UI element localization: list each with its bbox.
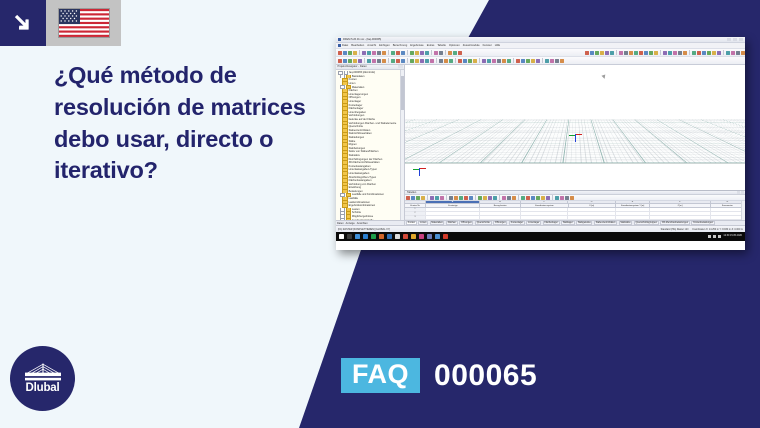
toolbar-button[interactable] [526,59,530,63]
table-cell[interactable] [568,216,615,219]
tree-item-label: Gelenke auf der Fläche [349,118,375,121]
toolbar-button[interactable] [458,51,462,55]
table-cell[interactable] [616,216,650,219]
table-sheet-tab[interactable]: Querschnittsgruppen [634,221,659,225]
table-row[interactable]: 3 [405,216,745,220]
table-cell[interactable] [568,212,615,215]
toolbar-button[interactable] [678,51,682,55]
toolbar-button[interactable] [343,51,347,55]
toolbar-separator [436,58,437,63]
toolbar-button[interactable] [362,51,366,55]
table-sheet-tabs[interactable]: KnotenLinienMaterialienFlächenÖffnungenQ… [405,220,745,225]
toolbar-separator [388,50,389,55]
corner-axis-z-indicator [419,168,420,176]
toolbar-button[interactable] [430,59,434,63]
toolbar-separator [518,195,519,200]
table-cell[interactable]: 3 [405,216,426,219]
toolbar-separator [499,195,500,200]
logo-label: Dlubal [26,383,60,395]
toolbar-button[interactable] [712,51,716,55]
tray-icon-network[interactable] [708,235,711,238]
toolbar-button[interactable] [536,196,540,200]
toolbar-button[interactable] [338,59,342,63]
toolbar-button[interactable] [493,196,497,200]
toolbar-button[interactable] [702,51,706,55]
table-sheet-tab[interactable]: Linienlager [526,221,541,225]
table-panel-header: Tabellen [405,191,745,195]
table-cell[interactable] [480,212,521,215]
toolbar-button[interactable] [435,196,439,200]
navigator-pin-icon[interactable] [398,65,403,68]
taskbar-app-icon[interactable] [363,234,368,239]
menu-item-fenster[interactable]: Fenster [483,44,492,47]
menu-item-ergebnisse[interactable]: Ergebnisse [410,44,423,47]
table-column-letter[interactable]: E [616,201,650,203]
toolbar-button[interactable] [448,51,452,55]
navigator-tree[interactable]: faq-000065 [dlcontrols]BasisdatenKnotenL… [336,70,404,220]
table-sheet-tab[interactable]: Stabexzentrizitäten [594,221,617,225]
arrow-down-right-button[interactable] [0,0,46,46]
tray-icon-volume[interactable] [713,235,716,238]
navigator-tab-ansichten[interactable]: Ansichten [357,222,368,225]
toolbar-button[interactable] [629,51,633,55]
toolbar-button[interactable] [416,196,420,200]
tray-icon-battery[interactable] [718,235,721,238]
app-toolbar-secondary[interactable] [336,57,745,65]
toolbar-separator [689,50,690,55]
tree-item-label: Stabsätze [349,154,360,157]
table-cell[interactable] [711,208,745,211]
toolbar-button[interactable] [565,196,569,200]
tree-item[interactable]: Ausdruckprotokolle [337,218,404,220]
table-cell[interactable] [426,208,480,211]
toolbar-button[interactable] [410,59,414,63]
maximize-icon[interactable] [733,38,737,41]
table-cell[interactable] [711,212,745,215]
dlubal-logo[interactable]: Dlubal [10,346,75,411]
toolbar-button[interactable] [358,59,362,63]
tree-item-label: Flächen [349,89,358,92]
toolbar-button[interactable] [420,59,424,63]
windows-taskbar[interactable]: 12:30 15.05.2020 [336,232,745,241]
toolbar-button[interactable] [338,51,342,55]
project-navigator: Projekt-Navigator - Daten faq-000065 [dl… [336,65,405,225]
toolbar-button[interactable] [736,51,740,55]
toolbar-button[interactable] [668,51,672,55]
table-cell[interactable] [711,216,745,219]
toolbar-button[interactable] [396,59,400,63]
taskbar-app-icon[interactable] [403,234,408,239]
toolbar-separator [431,50,432,55]
toolbar-button[interactable] [453,51,457,55]
navigator-tabs[interactable]: Daten Anzeige Ansichten [336,220,404,225]
taskbar-app-icon[interactable] [395,234,400,239]
faq-badge: FAQ [341,358,420,393]
toolbar-button[interactable] [353,51,357,55]
toolbar-button[interactable] [502,196,506,200]
navigator-scrollbar[interactable] [400,70,404,220]
toolbar-button[interactable] [654,51,658,55]
toolbar-button[interactable] [482,59,486,63]
toolbar-button[interactable] [741,51,745,55]
toolbar-separator [407,50,408,55]
close-icon[interactable] [739,38,743,41]
toolbar-button[interactable] [459,196,463,200]
table-cell[interactable] [480,216,521,219]
navigator-tab-daten[interactable]: Daten [337,222,344,225]
toolbar-button[interactable] [521,196,525,200]
app-statusbar: [F1] RASTER [KOMPLETTIEREN] [GLOBAL XY] … [336,225,745,232]
toolbar-button[interactable] [560,196,564,200]
taskbar-clock[interactable]: 12:30 15.05.2020 [723,235,742,238]
toolbar-button[interactable] [425,59,429,63]
mouse-cursor-icon [602,74,607,79]
toolbar-button[interactable] [406,196,410,200]
toolbar-button[interactable] [531,196,535,200]
taskbar-app-icon[interactable] [379,234,384,239]
toolbar-button[interactable] [420,51,424,55]
toolbar-button[interactable] [401,51,405,55]
table-sheet-tab[interactable]: Stabsätze [619,221,633,225]
toolbar-button[interactable] [663,51,667,55]
window-controls[interactable] [727,38,743,41]
toolbar-separator [660,50,661,55]
toolbar-separator [479,58,480,63]
table-sheet-tab[interactable]: Stabgelenke [576,221,592,225]
toolbar-separator [407,58,408,63]
toolbar-button[interactable] [377,51,381,55]
table-cell[interactable] [616,212,650,215]
taskbar-app-icon[interactable] [371,234,376,239]
toolbar-button[interactable] [353,59,357,63]
scrollbar-thumb[interactable] [401,76,404,110]
tree-item-label: Linienlastangaben [349,172,370,175]
toolbar-button[interactable] [464,196,468,200]
toolbar-button[interactable] [600,51,604,55]
toolbar-button[interactable] [367,59,371,63]
toolbar-button[interactable] [521,59,525,63]
toolbar-button[interactable] [536,59,540,63]
toolbar-button[interactable] [430,196,434,200]
us-flag-icon [59,9,109,37]
toolbar-button[interactable] [458,59,462,63]
toolbar-button[interactable] [531,59,535,63]
toolbar-button[interactable] [372,51,376,55]
toolbar-button[interactable] [507,59,511,63]
table-sheet-tab[interactable]: Flächenlager [543,221,560,225]
toolbar-button[interactable] [545,59,549,63]
table-sheet-tab[interactable]: Knoten [406,221,417,225]
toolbar-button[interactable] [382,51,386,55]
menu-item-tabelle[interactable]: Tabelle [437,44,446,47]
table-column-letter[interactable]: A [426,201,480,203]
toolbar-button[interactable] [605,51,609,55]
toolbar-separator [446,195,447,200]
toolbar-button[interactable] [487,59,491,63]
toolbar-button[interactable] [343,59,347,63]
table-sheet-tab[interactable]: Knotenbelastungen [691,221,714,225]
toolbar-separator [616,50,617,55]
tree-item-label: 3D-Flächennichtlinearitäten [349,161,380,164]
toolbar-separator [475,195,476,200]
toolbar-button[interactable] [516,59,520,63]
windows-start-icon[interactable] [339,234,344,239]
tree-item-label: Querschnitte [349,125,363,128]
app-titlebar: RFEM 5.26.01.xxx - [faq-000065] [336,37,745,43]
tree-item-label: Öffnungen [349,96,361,99]
table-sheet-tab[interactable]: Stablager [561,221,574,225]
table-column-header: Z [m] [650,204,710,207]
toolbar-button[interactable] [348,51,352,55]
toolbar-button[interactable] [546,196,550,200]
table-column-letter[interactable]: C [521,201,568,203]
toolbar-button[interactable] [683,51,687,55]
toolbar-button[interactable] [590,51,594,55]
system-tray[interactable]: 12:30 15.05.2020 [708,235,742,238]
table-column-letter[interactable]: F [650,201,711,203]
toolbar-button[interactable] [439,51,443,55]
navigator-title: Projekt-Navigator - Daten [338,65,367,68]
menu-item-optionen[interactable]: Optionen [449,44,460,47]
toolbar-button[interactable] [673,51,677,55]
toolbar-button[interactable] [425,51,429,55]
table-panel-controls[interactable] [737,191,745,194]
menu-item-zusatzmodule[interactable]: Zusatzmodule [463,44,480,47]
app-body: Projekt-Navigator - Daten faq-000065 [dl… [336,65,745,225]
page-title: ¿Qué método de resolución de matrices de… [54,60,322,187]
table-column-header: Knoten Nr. [405,204,426,207]
toolbar-button[interactable] [610,51,614,55]
table-sheet-tab[interactable]: Materialien [430,221,445,225]
taskbar-app-icon[interactable] [435,234,440,239]
toolbar-button[interactable] [639,51,643,55]
toolbar-button[interactable] [396,51,400,55]
toolbar-button[interactable] [449,59,453,63]
menu-item-einfuegen[interactable]: Einfügen [379,44,390,47]
application-screenshot: RFEM 5.26.01.xxx - [faq-000065] Datei Be… [336,37,745,250]
workspace: Tabellen ABCDEFG Knoten Nr.KnotentypBezu… [405,65,745,225]
toolbar-button[interactable] [492,59,496,63]
folder-icon [346,218,351,220]
menu-item-berechnung[interactable]: Berechnung [393,44,408,47]
toolbar-button[interactable] [454,196,458,200]
table-column-letter[interactable]: B [480,201,521,203]
table-scrollbar[interactable] [741,201,745,220]
language-flag-button[interactable] [46,0,121,46]
table-sheet-tab[interactable]: Linien [418,221,428,225]
menu-item-extras[interactable]: Extras [427,44,435,47]
taskbar-app-icon[interactable] [387,234,392,239]
taskbar-app-icon[interactable] [443,234,448,239]
toolbar-button[interactable] [555,59,559,63]
taskbar-app-icon[interactable] [427,234,432,239]
toolbar-button[interactable] [372,59,376,63]
table-column-header: Bezug-knoten [480,204,521,207]
toolbar-button[interactable] [595,51,599,55]
toolbar-button[interactable] [707,51,711,55]
toolbar-button[interactable] [410,51,414,55]
navigator-tab-anzeige[interactable]: Anzeige [346,222,355,225]
table-cell[interactable] [650,208,711,211]
toolbar-button[interactable] [415,51,419,55]
table-column-letter[interactable]: D [568,201,615,203]
tree-item-label: Linienlastangaben-Typen [349,168,377,171]
table-column-header: Koordinatensystem Y [m] [616,204,650,207]
status-hint: [F1] RASTER [KOMPLETTIEREN] [GLOBAL XY] [338,228,390,231]
taskbar-app-icon[interactable] [347,234,352,239]
table-cell[interactable] [616,208,650,211]
table-sheet-tab[interactable]: Querschnitte [475,221,492,225]
toolbar-button[interactable] [550,59,554,63]
toolbar-button[interactable] [348,59,352,63]
taskbar-app-icon[interactable] [419,234,424,239]
model-viewport-3d[interactable] [405,65,745,190]
toolbar-button[interactable] [463,59,467,63]
toolbar-button[interactable] [377,59,381,63]
toolbar-button[interactable] [478,196,482,200]
table-cell[interactable] [650,216,711,219]
app-toolbar-primary[interactable] [336,49,745,57]
table-cell[interactable] [521,208,568,211]
toolbar-button[interactable] [717,51,721,55]
toolbar-separator [364,58,365,63]
menu-item-bearbeiten[interactable]: Bearbeiten [351,44,364,47]
table-cell[interactable] [521,212,568,215]
toolbar-button[interactable] [697,51,701,55]
toolbar-button[interactable] [473,59,477,63]
toolbar-button[interactable] [421,196,425,200]
toolbar-button[interactable] [541,196,545,200]
table-rows[interactable]: 123 [405,208,745,220]
toolbar-separator [723,50,724,55]
app-icon [338,38,341,41]
toolbar-button[interactable] [382,59,386,63]
menu-system-icon [338,44,341,47]
taskbar-app-icon[interactable] [411,234,416,239]
toolbar-button[interactable] [570,196,574,200]
toolbar-button[interactable] [468,59,472,63]
toolbar-button[interactable] [497,59,501,63]
table-cell[interactable] [426,212,480,215]
toolbar-button[interactable] [624,51,628,55]
table-cell[interactable] [426,216,480,219]
tree-item-label: Verbindungen [349,114,365,117]
toolbar-button[interactable] [634,51,638,55]
faq-slide: ¿Qué método de resolución de matrices de… [0,0,760,428]
toolbar-button[interactable] [526,196,530,200]
toolbar-button[interactable] [434,51,438,55]
toolbar-button[interactable] [726,51,730,55]
toolbar-button[interactable] [444,59,448,63]
table-cell[interactable] [480,208,521,211]
tree-item-label: Flächenlager [349,107,364,110]
table-minimize-icon[interactable] [737,191,740,194]
taskbar-app-icon[interactable] [355,234,360,239]
tree-item-label: Lastfälle [349,197,359,200]
toolbar-separator [455,58,456,63]
status-mode: Standard (HG) Raster: AN [661,228,689,231]
axis-x-indicator [575,134,582,135]
toolbar-button[interactable] [512,196,516,200]
toolbar-button[interactable] [367,51,371,55]
tree-item-label: Möglichergebnisse [352,215,373,218]
toolbar-button[interactable] [731,51,735,55]
table-column-letter[interactable] [405,201,426,203]
status-coords: Koordinaten X: 14.250 m Y: 8.830 m Z: 0.… [692,228,743,231]
toolbar-button[interactable] [649,51,653,55]
toolbar-button[interactable] [692,51,696,55]
toolbar-button[interactable] [439,59,443,63]
toolbar-button[interactable] [585,51,589,55]
axis-z-indicator [575,134,576,142]
table-column-header: Kommentar [711,204,745,207]
tree-item-label: Rippen [349,143,357,146]
toolbar-button[interactable] [415,59,419,63]
toolbar-button[interactable] [488,196,492,200]
faq-number: 000065 [434,361,537,391]
toolbar-button[interactable] [555,196,559,200]
table-column-letter[interactable]: G [711,201,745,203]
tree-item-label: Stabnichtlinearitäten [349,132,372,135]
toolbar-button[interactable] [401,59,405,63]
tree-item-label: Flächenlastangaben [349,179,372,182]
toolbar-button[interactable] [469,196,473,200]
toolbar-button[interactable] [644,51,648,55]
toolbar-separator [388,58,389,63]
toolbar-button[interactable] [507,196,511,200]
minimize-icon[interactable] [727,38,731,41]
table-column-header: Knotentyp [426,204,480,207]
tree-item-label: Schnitte [352,211,361,214]
dlubal-bridge-icon [24,362,62,382]
toolbar-separator [427,195,428,200]
table-cell[interactable] [568,208,615,211]
toolbar-button[interactable] [440,196,444,200]
table-panel: Tabellen ABCDEFG Knoten Nr.KnotentypBezu… [405,190,745,225]
table-sheet-tab[interactable]: Flächen [446,221,458,225]
toolbar-button[interactable] [502,59,506,63]
toolbar-button[interactable] [619,51,623,55]
toolbar-separator [552,195,553,200]
toolbar-button[interactable] [391,51,395,55]
tree-expander-icon[interactable] [340,218,345,220]
table-cell[interactable]: 1 [405,208,426,211]
table-close-icon[interactable] [741,191,744,194]
toolbar-separator [359,50,360,55]
table-cell[interactable] [650,212,711,215]
toolbar-button[interactable] [449,196,453,200]
toolbar-button[interactable] [483,196,487,200]
table-sheet-tab[interactable]: Knotenlager [509,221,525,225]
menu-item-hilfe[interactable]: Hilfe [495,44,500,47]
table-sheet-tab[interactable]: Öffnungen [459,221,473,225]
table-cell[interactable]: 2 [405,212,426,215]
tree-item-label: Stabteilungen [349,136,365,139]
toolbar-button[interactable] [391,59,395,63]
corner-axis-x-indicator [419,168,426,169]
toolbar-button[interactable] [560,59,564,63]
language-bar [0,0,121,46]
faq-footer: FAQ 000065 [341,358,537,393]
menu-item-datei[interactable]: Datei [342,44,348,47]
toolbar-separator [542,58,543,63]
table-sheet-tab[interactable]: RF-Membranbelastungen [660,221,690,225]
toolbar-button[interactable] [411,196,415,200]
menu-item-ansicht[interactable]: Ansicht [367,44,376,47]
table-cell[interactable] [521,216,568,219]
table-grid[interactable]: ABCDEFG Knoten Nr.KnotentypBezug-knotenK… [405,201,745,220]
table-sheet-tab[interactable]: Öffnungen [493,221,507,225]
